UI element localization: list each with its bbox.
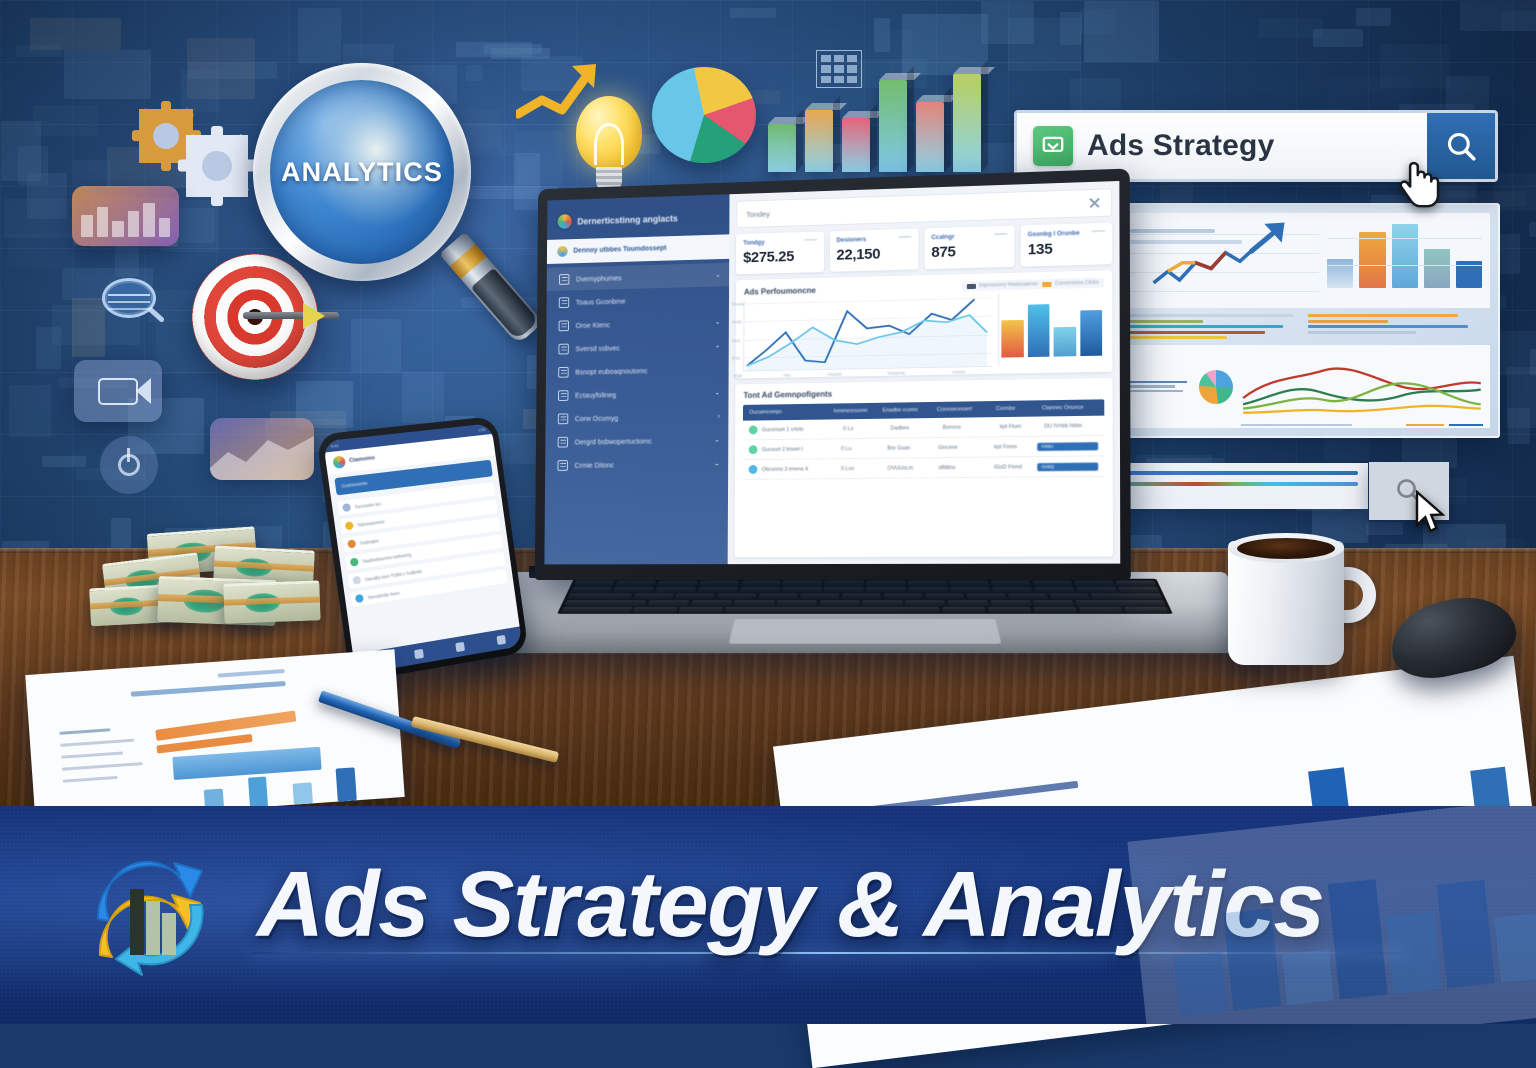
laptop: Dernerticstinng anglacts Dennoy utbbes T…: [505, 176, 1225, 721]
kpi-row: Tondgy $275.25 Desioners 22,150 Ccalngr …: [736, 223, 1112, 275]
ads-performance-chart-card: Ads Perfoumoncne Impressiony Heidoruwnso…: [736, 270, 1113, 378]
table-title: Tont Ad Gemnpofigents: [743, 385, 1104, 400]
sidebar-item-active[interactable]: Dennoy utbbes Toumdossept: [547, 234, 730, 264]
coffee-mug: [1228, 533, 1370, 665]
sidebar-item-label: Oergrd bsbwopertuctomc: [575, 435, 708, 445]
card-icon: [558, 436, 568, 447]
sidebar-item-label: Crmie Ditonc: [574, 459, 707, 469]
brand-logo-icon: [558, 214, 572, 229]
analytics-label: ANALYTICS: [281, 157, 443, 188]
chart-title: Ads Perfoumoncne: [744, 285, 816, 296]
laptop-base: [457, 572, 1273, 653]
analytics-magnifier: ANALYTICS: [253, 63, 471, 281]
status-time: 9:41: [331, 443, 340, 449]
coffee-liquid: [1237, 538, 1335, 559]
sidebar-item-label: Dvemyphumes: [576, 271, 708, 283]
sidebar-active-label: Dennoy utbbes Toumdossept: [573, 245, 666, 255]
bell-icon[interactable]: [455, 641, 465, 651]
table-cell: Gucoriuet 1 vrtvto: [762, 426, 839, 433]
search-icon: [1444, 129, 1478, 163]
table-cell: IGsD Ftvnd: [994, 464, 1033, 470]
refresh-cycle-bar-chart-logo: [76, 839, 224, 987]
kpi-label: Gsonbg I Orunbe: [1028, 229, 1105, 238]
cta-label: Gosnnvumbe: [341, 480, 368, 488]
id-card-icon: [559, 320, 569, 331]
table-cell: 0 Lo: [843, 425, 886, 432]
sidebar-item-6[interactable]: Corw Ocumyg ›: [546, 404, 729, 430]
search-query-text: Ads Strategy: [1087, 129, 1274, 163]
chevron-down-icon: ⌄: [714, 459, 720, 467]
arrow-cursor: [1414, 490, 1450, 536]
chevron-down-icon: ⌄: [715, 271, 721, 279]
topbar-label: Tondey: [746, 209, 770, 219]
bottom-banner: Ads Strategy & Analytics: [0, 806, 1536, 1024]
dashboard-main: Tondey Tondgy $275.25 Desioners 22,150: [728, 181, 1120, 564]
chart-icon: [557, 460, 567, 471]
chart-body: Pvonsnsob etos6'0o Pvtsnso rnsosmTvnsems…: [744, 292, 1105, 372]
kpi-card: Tondgy $275.25: [736, 231, 823, 274]
sidebar-item-4[interactable]: Bsnopt euboaqnoutomc: [546, 357, 729, 384]
user-icon: [559, 273, 569, 284]
laptop-trackpad[interactable]: [728, 618, 1002, 644]
dashboard-topbar[interactable]: Tondey: [737, 188, 1113, 228]
user-icon[interactable]: [496, 634, 506, 644]
line-chart: Pvonsnsob etos6'0o Pvtsnso rnsosmTvnsems…: [744, 294, 993, 371]
legend-item: Conversions Clicks: [1043, 280, 1099, 287]
data-magnifier-icon: [102, 278, 164, 330]
table-cell: Obcunns 3 tmena 4: [762, 466, 837, 473]
brand-name: Dernerticstinng anglacts: [577, 213, 678, 226]
video-camera-card-icon: [74, 360, 162, 422]
close-icon[interactable]: [1087, 196, 1101, 211]
table-cell: OVUUsLm: [887, 465, 934, 471]
search-input[interactable]: Ads Strategy: [1017, 113, 1427, 179]
chevron-right-icon: ›: [718, 413, 720, 420]
phone-list: Tocunorbe ten Tcbmnounmno Tndmubre Taadm…: [331, 479, 519, 654]
pie-chart-3d-icon: [652, 67, 756, 163]
table-cell: kpt Fomo: [994, 443, 1033, 450]
chevron-down-icon: ⌄: [714, 436, 720, 444]
kpi-label: Desioners: [836, 235, 911, 244]
avatar: [332, 455, 346, 469]
sidebar-item-5[interactable]: Ectauyfolineg ⌄: [546, 381, 729, 407]
chevron-down-icon: ⌄: [715, 341, 721, 349]
legend-item: Impressiony Heidoruwnso: [967, 281, 1038, 289]
document-icon: [558, 366, 568, 377]
kpi-value: 22,150: [836, 245, 911, 264]
dashboard-sidebar: Dernerticstinng anglacts Dennoy utbbes T…: [544, 194, 730, 564]
column-header: Oucsenrompc: [749, 409, 829, 416]
table-cell: Bonvns: [943, 424, 996, 431]
phone-body: 9:41 LTE Ctamomo Gosnnvumbe Tocunorbe te…: [316, 416, 529, 683]
bar-chart-3d-icon: [768, 62, 981, 172]
banner-report-overlay: [1127, 806, 1536, 1024]
cash-bundle: [223, 580, 320, 623]
list-icon: [559, 297, 569, 308]
area-chart-card-icon: [210, 418, 314, 480]
kpi-label: Ccalngr: [931, 232, 1007, 241]
laptop-lid: Dernerticstinng anglacts Dennoy utbbes T…: [535, 168, 1131, 580]
laptop-screen: Dernerticstinng anglacts Dennoy utbbes T…: [544, 181, 1120, 564]
mail-icon: [558, 413, 568, 424]
legend-label: Impressiony Heidoruwnso: [979, 281, 1038, 289]
column-header: Ctannec Onunce: [1042, 405, 1098, 412]
sidebar-item-8[interactable]: Crmie Ditonc ⌄: [545, 451, 728, 476]
table-cell-badge: GnbQ: [1037, 462, 1098, 471]
legend-label: Conversions Clicks: [1055, 280, 1099, 287]
status-badge: [749, 425, 758, 434]
kpi-label: Tondgy: [743, 238, 817, 247]
kpi-value: $275.25: [743, 247, 817, 266]
table-cell: kpt Ftum: [1000, 423, 1040, 430]
table-cell: Gucourt 2 tmoet t: [762, 446, 837, 453]
table-cell: ofliittns: [938, 464, 990, 471]
chevron-down-icon: ⌄: [714, 389, 720, 397]
chart-icon[interactable]: [414, 648, 424, 658]
dashboard-brand: Dernerticstinng anglacts: [547, 200, 730, 240]
kpi-value: 875: [931, 242, 1007, 261]
sidebar-item-label: Bsnopt euboaqnoutomc: [575, 364, 720, 375]
sidebar-item-label: Oroe Ktenc: [576, 318, 709, 330]
sidebar-item-label: Corw Ocumyg: [575, 412, 711, 423]
gear-icon: [139, 109, 193, 163]
status-badge: [749, 445, 758, 454]
column-header: Inmmesrsomn: [833, 408, 878, 415]
printed-report-left: [25, 649, 404, 822]
kpi-card: Gsonbg I Orunbe 135: [1021, 223, 1113, 267]
kpi-card: Ccalngr 875: [924, 226, 1014, 270]
tablet-icon: [558, 390, 568, 401]
table-row[interactable]: Obcunns 3 tmena 4 0 Lvo OVUUsLm ofliittn…: [743, 456, 1104, 480]
kpi-value: 135: [1028, 239, 1105, 258]
grid-keypad-icon: [816, 50, 862, 88]
phone-app-title: Ctamomo: [349, 455, 375, 464]
smartphone: 9:41 LTE Ctamomo Gosnnvumbe Tocunorbe te…: [316, 416, 529, 683]
phone-screen: 9:41 LTE Ctamomo Gosnnvumbe Tocunorbe te…: [323, 423, 522, 674]
table-cell: DU IVnbb hbbn: [1044, 422, 1098, 429]
dashboard-icon: [557, 246, 567, 257]
top-campaigns-table-card: Tont Ad Gemnpofigents Oucsenrompc Inmmes…: [735, 378, 1113, 557]
arrow-fletching-icon: [303, 303, 325, 329]
kpi-card: Desioners 22,150: [829, 229, 918, 272]
pointer-hand-cursor: [1399, 160, 1443, 216]
bar-chart: [999, 292, 1105, 367]
chevron-down-icon: ⌄: [715, 318, 721, 326]
table-cell: Bnr Gsan: [887, 445, 934, 452]
table-cell: Dadbes: [891, 424, 939, 431]
scene-root: ANALYTICS: [0, 0, 1536, 1024]
table-cell: 0 Lvo: [841, 465, 883, 471]
green-ad-display-icon: [1033, 126, 1073, 166]
cash-bundles: [86, 530, 316, 640]
column-header: Enadbe rcomn: [883, 407, 933, 414]
table-cell-badge: IVMU: [1037, 442, 1098, 451]
bar-chart-card-icon: [72, 186, 179, 246]
status-badge: [749, 465, 758, 474]
calendar-icon: [558, 343, 568, 354]
sidebar-item-7[interactable]: Oergrd bsbwopertuctomc ⌄: [545, 428, 728, 454]
power-button-icon: [100, 436, 158, 494]
table-cell: Gncene: [938, 444, 990, 451]
trend-arrow-up-icon: [516, 60, 606, 122]
magnifier-lens: ANALYTICS: [270, 80, 454, 264]
table-cell: 0 Lu: [841, 445, 883, 451]
gear-icon: [186, 135, 248, 197]
column-header: Ccionseonoert: [937, 406, 992, 413]
laptop-keyboard[interactable]: [557, 579, 1173, 615]
chart-legend: Impressiony Heidoruwnso Conversions Clic…: [962, 278, 1104, 292]
sidebar-item-label: Toaus Gconbme: [576, 294, 721, 306]
status-network: LTE: [478, 427, 485, 433]
column-header: Connbe: [996, 405, 1038, 412]
report-multiline-chart: [1241, 352, 1483, 421]
report-bar-chart: [1327, 221, 1482, 300]
sidebar-item-label: Ectauyfolineg: [575, 388, 708, 399]
sidebar-item-label: Sversd ssbvec: [575, 341, 708, 353]
